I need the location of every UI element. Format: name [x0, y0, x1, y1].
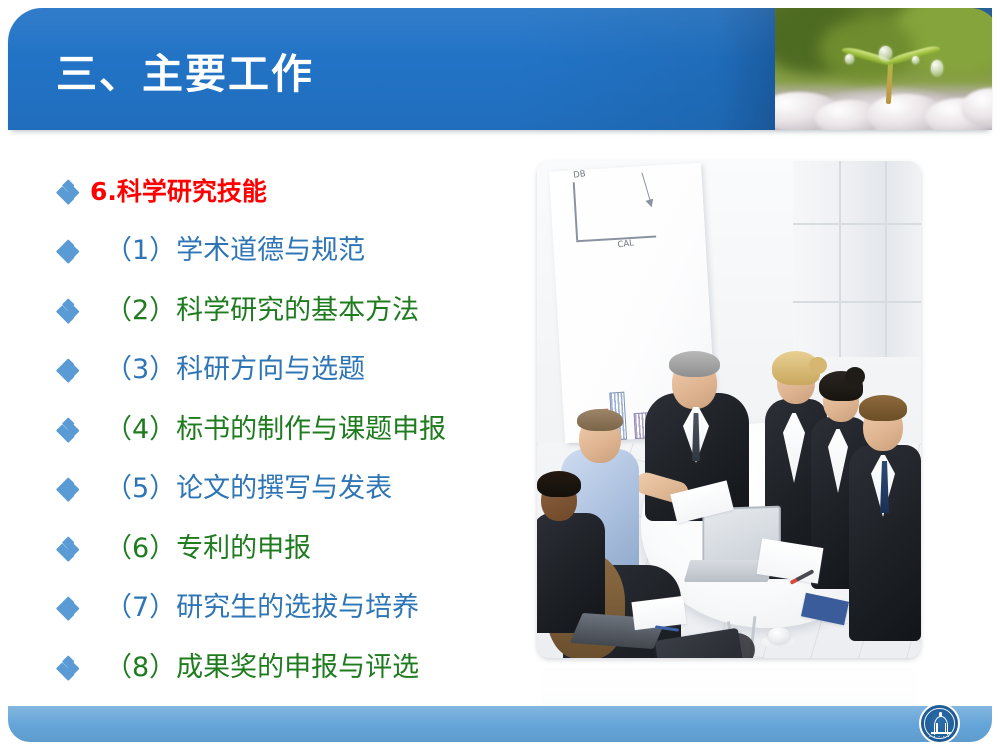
slide-header-band: 三、主要工作: [8, 8, 992, 130]
presentation-slide: 三、主要工作 6.科学研究技能 （1）学术道德与规范 （2）科学研究的基本方法: [0, 0, 1000, 750]
list-item[interactable]: （2）科学研究的基本方法: [58, 281, 528, 341]
diamond-bullet-icon: [58, 420, 77, 439]
slide-footer-band: [8, 706, 992, 742]
diamond-bullet-icon: [58, 480, 77, 499]
list-item-label: （4）标书的制作与课题申报: [105, 415, 446, 445]
list-item[interactable]: （4）标书的制作与课题申报: [58, 400, 528, 460]
list-item-label: （1）学术道德与规范: [105, 236, 365, 266]
bullet-list: 6.科学研究技能 （1）学术道德与规范 （2）科学研究的基本方法 （3）科研方向…: [58, 162, 528, 750]
seedling-sprout-photo: [775, 8, 992, 130]
diamond-bullet-icon: [58, 539, 77, 558]
list-item-label: （5）论文的撰写与发表: [105, 474, 392, 504]
list-item[interactable]: （7）研究生的选拔与培养: [58, 579, 528, 639]
diamond-bullet-icon: [58, 599, 77, 618]
list-item[interactable]: （5）论文的撰写与发表: [58, 460, 528, 520]
list-item[interactable]: （1）学术道德与规范: [58, 222, 528, 282]
footer-gloss-overlay: [8, 706, 992, 742]
list-item-label: （8）成果奖的申报与评选: [105, 653, 419, 683]
page-title: 三、主要工作: [56, 54, 314, 95]
business-meeting-photo: DB CAL: [537, 161, 921, 658]
diamond-bullet-icon: [58, 182, 77, 201]
list-item-label: （6）专利的申报: [105, 534, 311, 564]
emblem-base: [931, 732, 951, 734]
list-item-label: （7）研究生的选拔与培养: [105, 593, 419, 623]
diamond-bullet-icon: [58, 242, 77, 261]
whiteboard-label-db: DB: [573, 169, 587, 181]
coffee-cup: [768, 627, 790, 643]
list-item-label: （2）科学研究的基本方法: [105, 296, 419, 326]
office-window-wall: [793, 161, 921, 357]
business-meeting-photo-frame: DB CAL: [537, 161, 921, 658]
list-item[interactable]: （6）专利的申报: [58, 519, 528, 579]
university-emblem[interactable]: • • • • •: [919, 703, 960, 744]
list-item[interactable]: （3）科研方向与选题: [58, 341, 528, 401]
diamond-bullet-icon: [58, 301, 77, 320]
list-item-label: （3）科研方向与选题: [105, 355, 365, 385]
list-item[interactable]: （8）成果奖的申报与评选: [58, 638, 528, 698]
whiteboard-label-cal: CAL: [617, 238, 635, 250]
diamond-bullet-icon: [58, 361, 77, 380]
list-item[interactable]: 6.科学研究技能: [58, 162, 528, 222]
diamond-bullet-icon: [58, 658, 77, 677]
emblem-inscription: • • • • •: [921, 735, 958, 739]
list-item-label: 6.科学研究技能: [90, 178, 267, 206]
